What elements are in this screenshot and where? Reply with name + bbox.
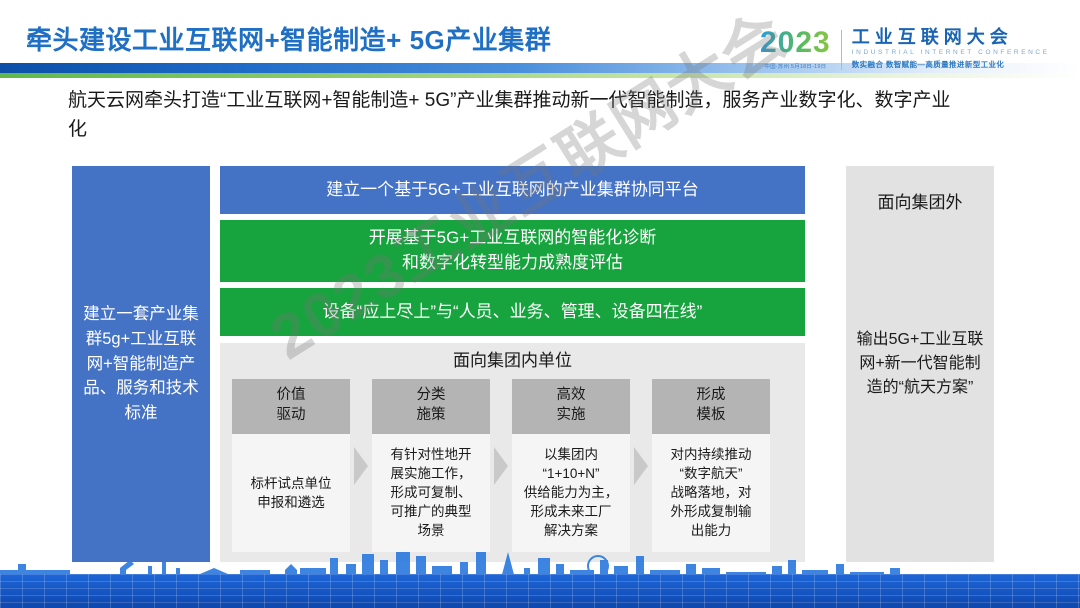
- logo-name-block: 工业互联网大会 INDUSTRIAL INTERNET CONFERENCE 数…: [852, 28, 1050, 70]
- step-card-body: 标杆试点单位 申报和遴选: [232, 434, 350, 552]
- external-output-panel: 面向集团外 输出5G+工业互联网+新一代智能制造的“航天方案”: [846, 166, 994, 562]
- internal-units-group: 面向集团内单位 价值 驱动 标杆试点单位 申报和遴选 分类 施策 有针对性地开 …: [220, 343, 805, 562]
- step-card-body: 对内持续推动 “数字航天” 战略落地，对 外形成复制输 出能力: [652, 434, 770, 552]
- step-card-head: 价值 驱动: [232, 379, 350, 433]
- platform-band-text: 建立一个基于5G+工业互联网的产业集群协同平台: [326, 178, 699, 203]
- page-title: 牵头建设工业互联网+智能制造+ 5G产业集群: [26, 20, 551, 57]
- slide-canvas: 牵头建设工业互联网+智能制造+ 5G产业集群 2023 中国·苏州 5月18日-…: [0, 0, 1080, 608]
- header-green-rule: [0, 73, 1080, 78]
- step-card-head: 高效 实施: [512, 379, 630, 433]
- chevron-right-icon: [490, 379, 512, 552]
- step-card[interactable]: 形成 模板 对内持续推动 “数字航天” 战略落地，对 外形成复制输 出能力: [652, 379, 770, 552]
- lead-paragraph: 航天云网牵头打造“工业互联网+智能制造+ 5G”产业集群推动新一代智能制造，服务…: [68, 86, 968, 145]
- left-standards-text: 建立一套产业集群5g+工业互联网+智能制造产品、服务和技术标准: [82, 302, 200, 426]
- logo-slogan: 数实融合 数智赋能—高质量推进新型工业化: [852, 59, 1050, 70]
- online-band-text: 设备“应上尽上”与“人员、业务、管理、设备四在线”: [323, 300, 703, 325]
- step-card[interactable]: 价值 驱动 标杆试点单位 申报和遴选: [232, 379, 350, 552]
- chevron-right-icon: [630, 379, 652, 552]
- conference-logo: 2023 中国·苏州 5月18日-19日 工业互联网大会 INDUSTRIAL …: [760, 28, 1050, 70]
- logo-year: 2023: [760, 28, 831, 58]
- chevron-right-icon: [350, 379, 372, 552]
- step-card[interactable]: 高效 实施 以集团内 “1+10+N” 供给能力为主， 形成未来工厂 解决方案: [512, 379, 630, 552]
- step-card[interactable]: 分类 施策 有针对性地开 展实施工作， 形成可复制、 可推广的典型 场景: [372, 379, 490, 552]
- step-card-head: 分类 施策: [372, 379, 490, 433]
- diagram-area: 建立一套产业集群5g+工业互联网+智能制造产品、服务和技术标准 建立一个基于5G…: [0, 160, 1080, 560]
- logo-name-en: INDUSTRIAL INTERNET CONFERENCE: [852, 49, 1050, 56]
- platform-band: 建立一个基于5G+工业互联网的产业集群协同平台: [220, 166, 805, 214]
- footer-grid: [0, 574, 1080, 608]
- center-column: 建立一个基于5G+工业互联网的产业集群协同平台 开展基于5G+工业互联网的智能化…: [220, 166, 805, 562]
- logo-year-block: 2023 中国·苏州 5月18日-19日: [760, 28, 831, 70]
- online-band: 设备“应上尽上”与“人员、业务、管理、设备四在线”: [220, 288, 805, 336]
- step-card-body: 有针对性地开 展实施工作， 形成可复制、 可推广的典型 场景: [372, 434, 490, 552]
- assessment-band-text: 开展基于5G+工业互联网的智能化诊断 和数字化转型能力成熟度评估: [369, 226, 657, 275]
- external-output-text: 输出5G+工业互联网+新一代智能制造的“航天方案”: [846, 166, 994, 562]
- logo-divider: [841, 30, 842, 70]
- step-card-head: 形成 模板: [652, 379, 770, 433]
- step-card-body: 以集团内 “1+10+N” 供给能力为主， 形成未来工厂 解决方案: [512, 434, 630, 552]
- assessment-band: 开展基于5G+工业互联网的智能化诊断 和数字化转型能力成熟度评估: [220, 220, 805, 282]
- internal-units-cards: 价值 驱动 标杆试点单位 申报和遴选 分类 施策 有针对性地开 展实施工作， 形…: [232, 379, 793, 552]
- logo-name-cn: 工业互联网大会: [852, 28, 1050, 47]
- left-standards-panel: 建立一套产业集群5g+工业互联网+智能制造产品、服务和技术标准: [72, 166, 210, 562]
- logo-date-line: 中国·苏州 5月18日-19日: [764, 62, 826, 70]
- internal-units-title: 面向集团内单位: [232, 351, 793, 371]
- footer-decoration: [0, 552, 1080, 608]
